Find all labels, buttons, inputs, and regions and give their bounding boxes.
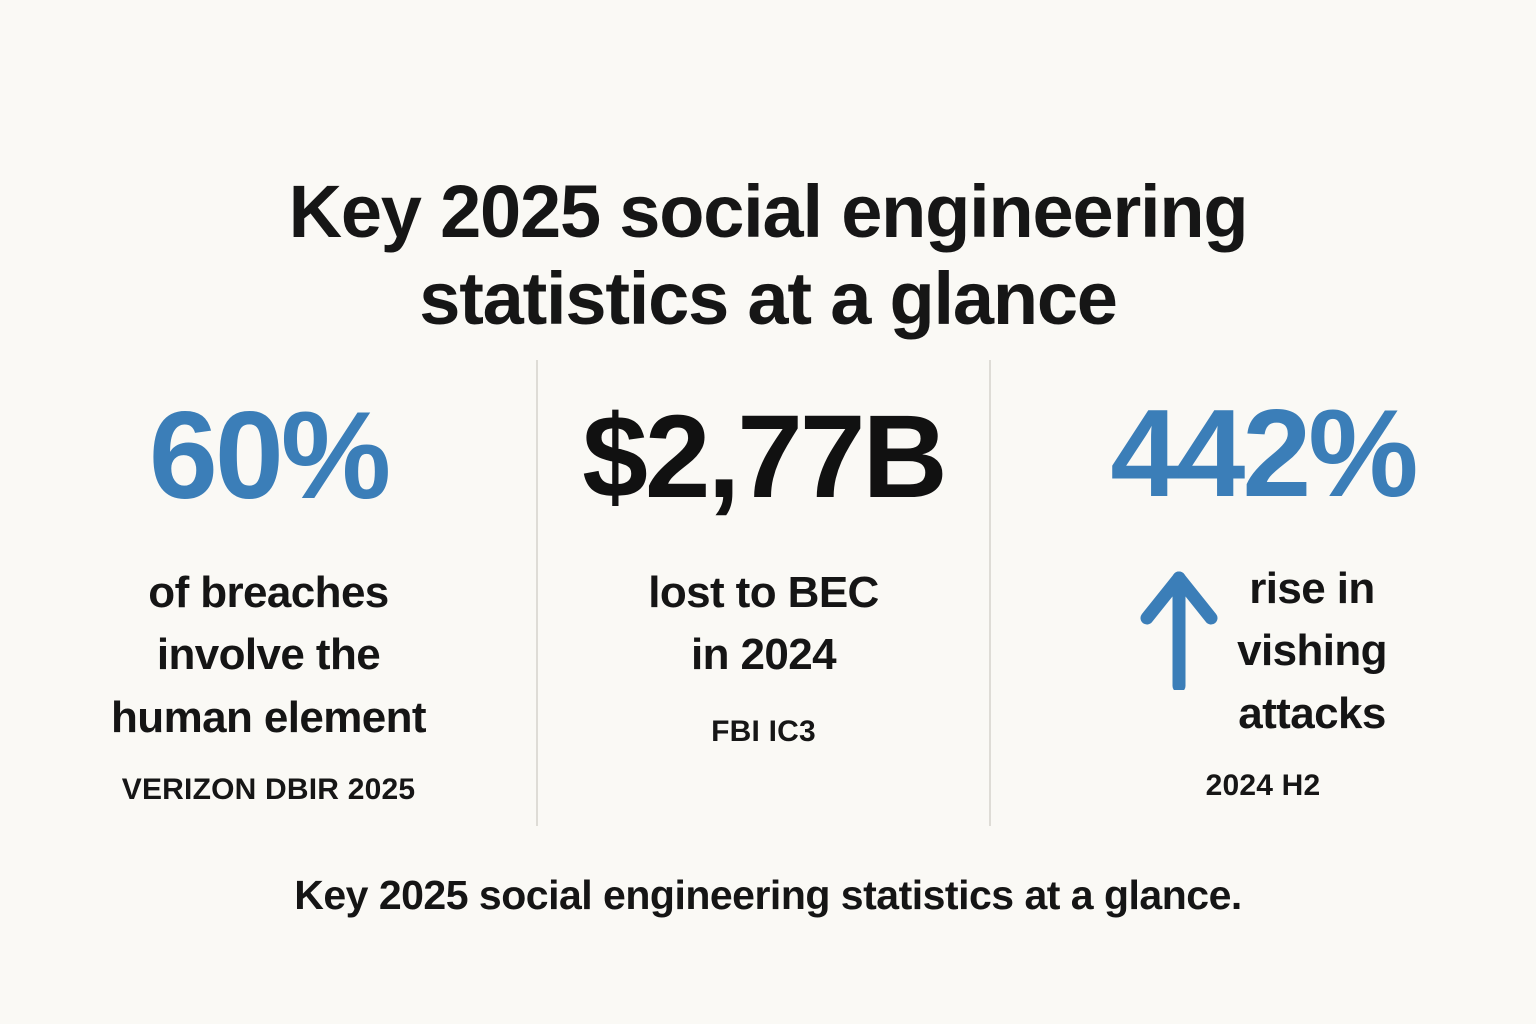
stat-descriptor-vishing: rise in vishing attacks	[1237, 558, 1387, 745]
stat-descriptor-line: vishing	[1237, 620, 1387, 682]
stat-card-breaches: 60% of breaches involve the human elemen…	[0, 360, 537, 828]
stat-value-bec: $2,77B	[582, 398, 945, 516]
arrow-descriptor-group: rise in vishing attacks	[1139, 558, 1387, 745]
arrow-up-icon	[1139, 568, 1219, 690]
page-title: Key 2025 social engineering statistics a…	[0, 168, 1536, 343]
column-divider-1	[536, 360, 538, 826]
stats-row: 60% of breaches involve the human elemen…	[0, 360, 1536, 828]
infographic-canvas: Key 2025 social engineering statistics a…	[0, 0, 1536, 1024]
stat-descriptor-line: human element	[111, 687, 426, 749]
stat-value-vishing: 442%	[1110, 392, 1415, 516]
stat-source-breaches: VERIZON DBIR 2025	[122, 773, 415, 807]
figure-caption: Key 2025 social engineering statistics a…	[0, 872, 1536, 919]
stat-descriptor-line: lost to BEC	[648, 562, 879, 624]
stat-source-vishing: 2024 H2	[1206, 769, 1321, 803]
column-divider-2	[989, 360, 991, 826]
stat-descriptor-line: attacks	[1237, 683, 1387, 745]
stat-descriptor-bec: lost to BEC in 2024	[648, 562, 879, 687]
stat-card-bec: $2,77B lost to BEC in 2024 FBI IC3	[537, 360, 990, 828]
stat-source-bec: FBI IC3	[711, 715, 816, 749]
stat-descriptor-line: of breaches	[111, 562, 426, 624]
stat-descriptor-line: in 2024	[648, 624, 879, 686]
stat-descriptor-line: rise in	[1237, 558, 1387, 620]
stat-descriptor-line: involve the	[111, 624, 426, 686]
stat-descriptor-breaches: of breaches involve the human element	[111, 562, 426, 749]
stat-value-breaches: 60%	[149, 394, 388, 518]
stat-card-vishing: 442% rise in vishing attacks 2024 H2	[990, 360, 1536, 828]
